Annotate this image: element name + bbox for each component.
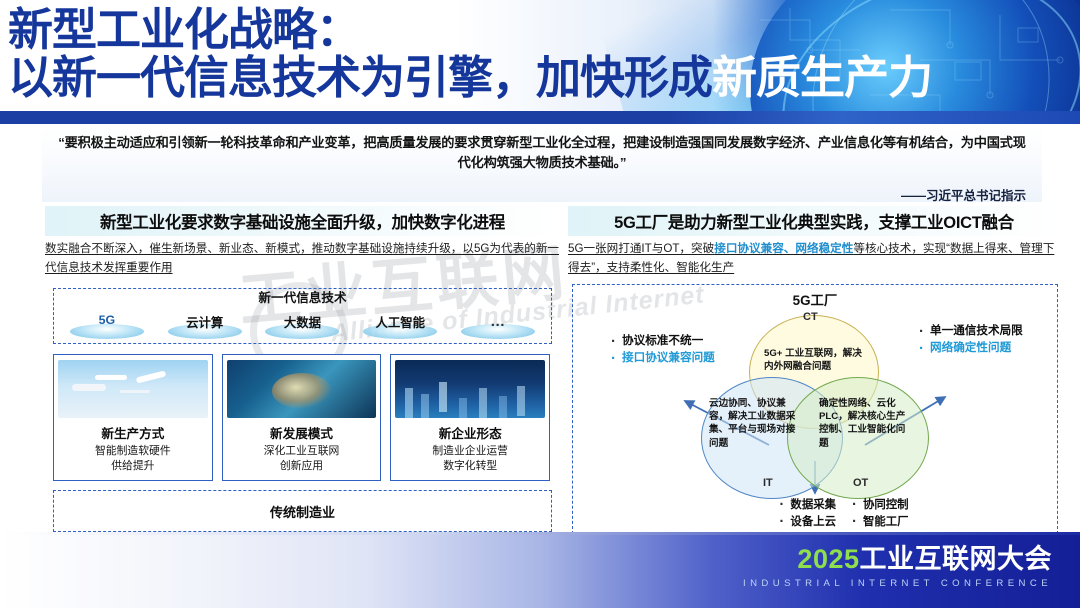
title-line-1: 新型工业化战略：	[8, 6, 1068, 54]
title-line-2: 以新一代信息技术为引擎，加快形成新质生产力	[8, 54, 1068, 102]
city-skyline-photo-icon	[395, 360, 545, 418]
outcome-cards: 新生产方式 智能制造软硬件 供给提升 新发展模式 深化工业互联网 创新应用 新企…	[53, 354, 550, 481]
circle-ct-text: 5G+ 工业互联网，解决内外网融合问题	[764, 347, 864, 373]
slide-header: 新型工业化战略： 以新一代信息技术为引擎，加快形成新质生产力	[0, 0, 1080, 124]
slide-root: 新型工业化战略： 以新一代信息技术为引擎，加快形成新质生产力 “要积极主动适应和…	[0, 0, 1080, 608]
card-new-enterprise-form[interactable]: 新企业形态 制造业企业运营 数字化转型	[390, 354, 550, 481]
title-line-2-dark: 以新一代信息技术为引擎，加快形成	[8, 51, 712, 104]
bullets-left: 协议标准不统一 接口协议兼容问题	[609, 333, 731, 368]
right-panel: 5G工厂是助力新型工业化典型实践，支撑工业OICT融合 5G一张网打通IT与OT…	[568, 206, 1060, 536]
circle-ot-label: OT	[853, 477, 868, 489]
bullet-item: 智能工厂	[850, 514, 909, 531]
new-gen-it-box: 新一代信息技术 5G 云计算 大数据 人工智能	[53, 288, 552, 344]
quote-source: ——习近平总书记指示	[901, 185, 1026, 204]
card-desc: 智能制造软硬件 供给提升	[58, 444, 208, 473]
card-title: 新企业形态	[395, 423, 545, 442]
tech-item-label: 人工智能	[351, 309, 449, 331]
right-section-title: 5G工厂是助力新型工业化典型实践，支撑工业OICT融合	[568, 209, 1060, 233]
tech-item-label: 云计算	[156, 309, 254, 331]
bullet-item: 设备上云	[777, 514, 836, 531]
circle-it-label: IT	[763, 477, 773, 489]
tech-item-label: 大数据	[254, 309, 352, 331]
bullet-item: 协议标准不统一	[609, 333, 731, 349]
right-section-subtitle: 5G一张网打通IT与OT，突破接口协议兼容、网络稳定性等核心技术，实现“数据上得…	[568, 240, 1060, 278]
left-section-title: 新型工业化要求数字基础设施全面升级，加快数字化进程	[45, 209, 560, 233]
subtitle-pre: 5G一张网打通IT与OT，突破	[568, 242, 714, 255]
card-desc: 制造业企业运营 数字化转型	[395, 444, 545, 473]
card-desc-line2: 创新应用	[227, 459, 377, 474]
tech-pill-row: 5G 云计算 大数据 人工智能 …	[58, 309, 547, 339]
new-gen-it-label: 新一代信息技术	[54, 287, 551, 306]
logo-main: 2025工业互联网大会	[743, 546, 1052, 573]
footer-top-line	[0, 532, 1080, 535]
bullet-item: 数据采集	[777, 497, 836, 514]
subtitle-highlight: 接口协议兼容、网络稳定性	[714, 242, 853, 255]
tech-item-more[interactable]: …	[449, 309, 547, 339]
card-desc-line2: 供给提升	[58, 459, 208, 474]
traditional-manufacturing-box: 传统制造业	[53, 490, 552, 532]
logo-name-en: INDUSTRIAL INTERNET CONFERENCE	[743, 578, 1052, 589]
bullet-item: 接口协议兼容问题	[609, 350, 731, 366]
left-panel: 新型工业化要求数字基础设施全面升级，加快数字化进程 数实融合不断深入，催生新场景…	[45, 206, 560, 536]
venn-title: 5G工厂	[573, 289, 1057, 309]
bullets-bottom: 数据采集 设备上云 协同控制 智能工厂	[703, 497, 983, 530]
title-line-2-highlight: 新质生产力	[712, 51, 932, 104]
left-section-header: 新型工业化要求数字基础设施全面升级，加快数字化进程	[45, 206, 560, 236]
card-title: 新生产方式	[58, 423, 208, 442]
ocean-tech-photo-icon	[227, 360, 377, 418]
logo-year: 2025	[797, 544, 859, 574]
venn-diagram-box: 5G工厂 CT IT OT 5G+ 工业互联网，解决内外网融合问题 云边协同、协…	[572, 284, 1058, 534]
card-desc-line1: 深化工业互联网	[227, 444, 377, 459]
circle-ct-label: CT	[803, 311, 818, 323]
tech-item-5g[interactable]: 5G	[58, 309, 156, 339]
bullets-bottom-right: 协同控制 智能工厂	[850, 497, 909, 530]
bullet-item: 协同控制	[850, 497, 909, 514]
right-section-header: 5G工厂是助力新型工业化典型实践，支撑工业OICT融合	[568, 206, 1060, 236]
tech-item-label: …	[449, 309, 547, 330]
circle-it-text: 云边协同、协议兼容，解决工业数据采集、平台与现场对接问题	[709, 397, 797, 450]
quote-block: “要积极主动适应和引领新一轮科技革命和产业变革，把高质量发展的要求贯穿新型工业化…	[42, 128, 1042, 202]
card-title: 新发展模式	[227, 423, 377, 442]
tech-item-ai[interactable]: 人工智能	[351, 309, 449, 339]
page-title: 新型工业化战略： 以新一代信息技术为引擎，加快形成新质生产力	[8, 6, 1068, 101]
card-desc-line1: 制造业企业运营	[395, 444, 545, 459]
bullets-right: 单一通信技术局限 网络确定性问题	[917, 323, 1037, 358]
tech-item-label: 5G	[58, 309, 156, 327]
circle-ot-text: 确定性网络、云化PLC，解决核心生产控制、工业智能化问题	[819, 397, 911, 450]
slide-footer: 2025工业互联网大会 INDUSTRIAL INTERNET CONFEREN…	[0, 532, 1080, 608]
bullet-item: 网络确定性问题	[917, 340, 1037, 356]
quote-text: “要积极主动适应和引领新一轮科技革命和产业变革，把高质量发展的要求贯穿新型工业化…	[52, 133, 1032, 174]
tech-item-cloud[interactable]: 云计算	[156, 309, 254, 339]
logo-name-cn: 工业互联网大会	[860, 544, 1053, 574]
bullet-item: 单一通信技术局限	[917, 323, 1037, 339]
airplane-photo-icon	[58, 360, 208, 418]
card-desc-line2: 数字化转型	[395, 459, 545, 474]
left-section-subtitle: 数实融合不断深入，催生新场景、新业态、新模式，推动数字基础设施持续升级，以5G为…	[45, 240, 560, 278]
card-desc-line1: 智能制造软硬件	[58, 444, 208, 459]
tech-item-bigdata[interactable]: 大数据	[254, 309, 352, 339]
traditional-manufacturing-label: 传统制造业	[54, 502, 551, 521]
card-new-production-mode[interactable]: 新生产方式 智能制造软硬件 供给提升	[53, 354, 213, 481]
card-desc: 深化工业互联网 创新应用	[227, 444, 377, 473]
card-new-development-model[interactable]: 新发展模式 深化工业互联网 创新应用	[222, 354, 382, 481]
header-bottom-bar	[0, 111, 1080, 124]
bullets-bottom-left: 数据采集 设备上云	[777, 497, 836, 530]
conference-logo: 2025工业互联网大会 INDUSTRIAL INTERNET CONFEREN…	[743, 546, 1052, 589]
